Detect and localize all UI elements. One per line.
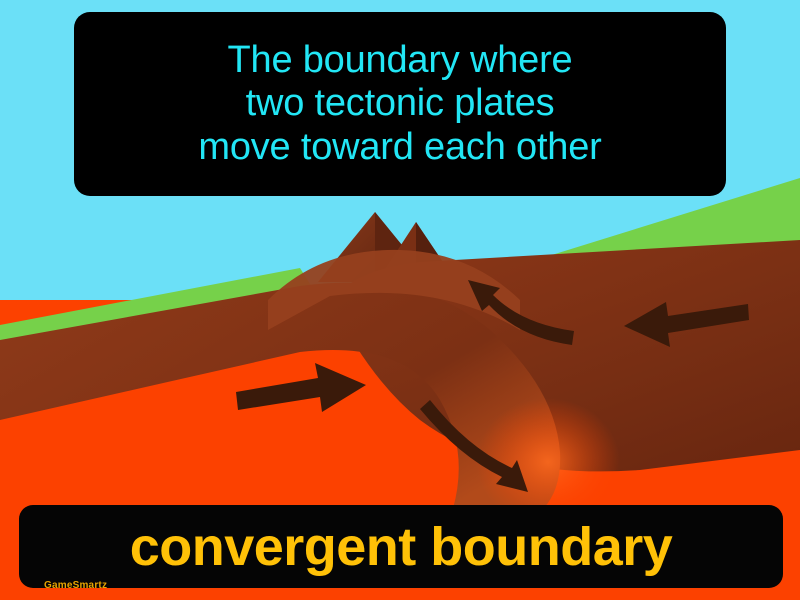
watermark-gamesmartz: GameSmartz [44, 580, 107, 591]
definition-text: The boundary where two tectonic plates m… [74, 39, 726, 169]
definition-line-2: two tectonic plates [82, 82, 718, 125]
term-bar: convergent boundary [19, 505, 783, 588]
definition-card: The boundary where two tectonic plates m… [74, 12, 726, 196]
definition-line-3: move toward each other [82, 126, 718, 169]
term-label: convergent boundary [19, 520, 783, 574]
definition-line-1: The boundary where [82, 39, 718, 82]
flashcard-image: The boundary where two tectonic plates m… [0, 0, 800, 600]
